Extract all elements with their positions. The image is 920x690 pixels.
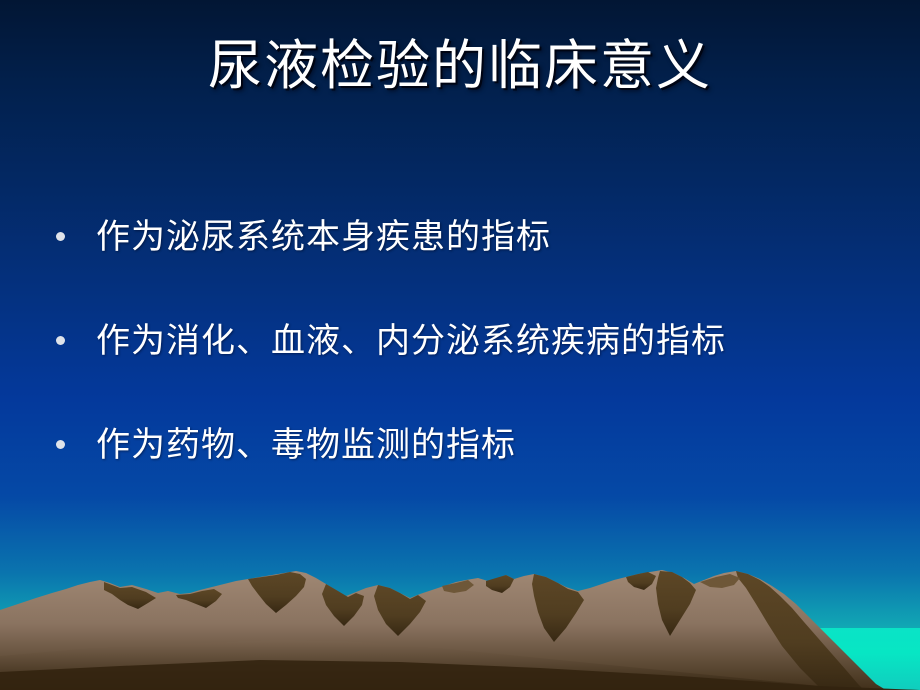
bullet-marker-icon bbox=[48, 214, 96, 260]
list-item-label: 作为泌尿系统本身疾患的指标 bbox=[96, 214, 890, 260]
bullet-marker-icon bbox=[48, 422, 96, 468]
list-item-label: 作为药物、毒物监测的指标 bbox=[96, 422, 890, 468]
page-title: 尿液检验的临床意义 bbox=[0, 38, 920, 95]
bullet-marker-icon bbox=[48, 318, 96, 364]
bullet-list: 作为泌尿系统本身疾患的指标 作为消化、血液、内分泌系统疾病的指标 作为药物、毒物… bbox=[48, 214, 890, 468]
list-item: 作为泌尿系统本身疾患的指标 bbox=[48, 214, 890, 260]
list-item: 作为药物、毒物监测的指标 bbox=[48, 422, 890, 468]
list-item-label: 作为消化、血液、内分泌系统疾病的指标 bbox=[96, 318, 890, 364]
mountain-range-graphic bbox=[0, 560, 920, 690]
slide-canvas: 尿液检验的临床意义 作为泌尿系统本身疾患的指标 作为消化、血液、内分泌系统疾病的… bbox=[0, 0, 920, 690]
list-item: 作为消化、血液、内分泌系统疾病的指标 bbox=[48, 318, 890, 364]
